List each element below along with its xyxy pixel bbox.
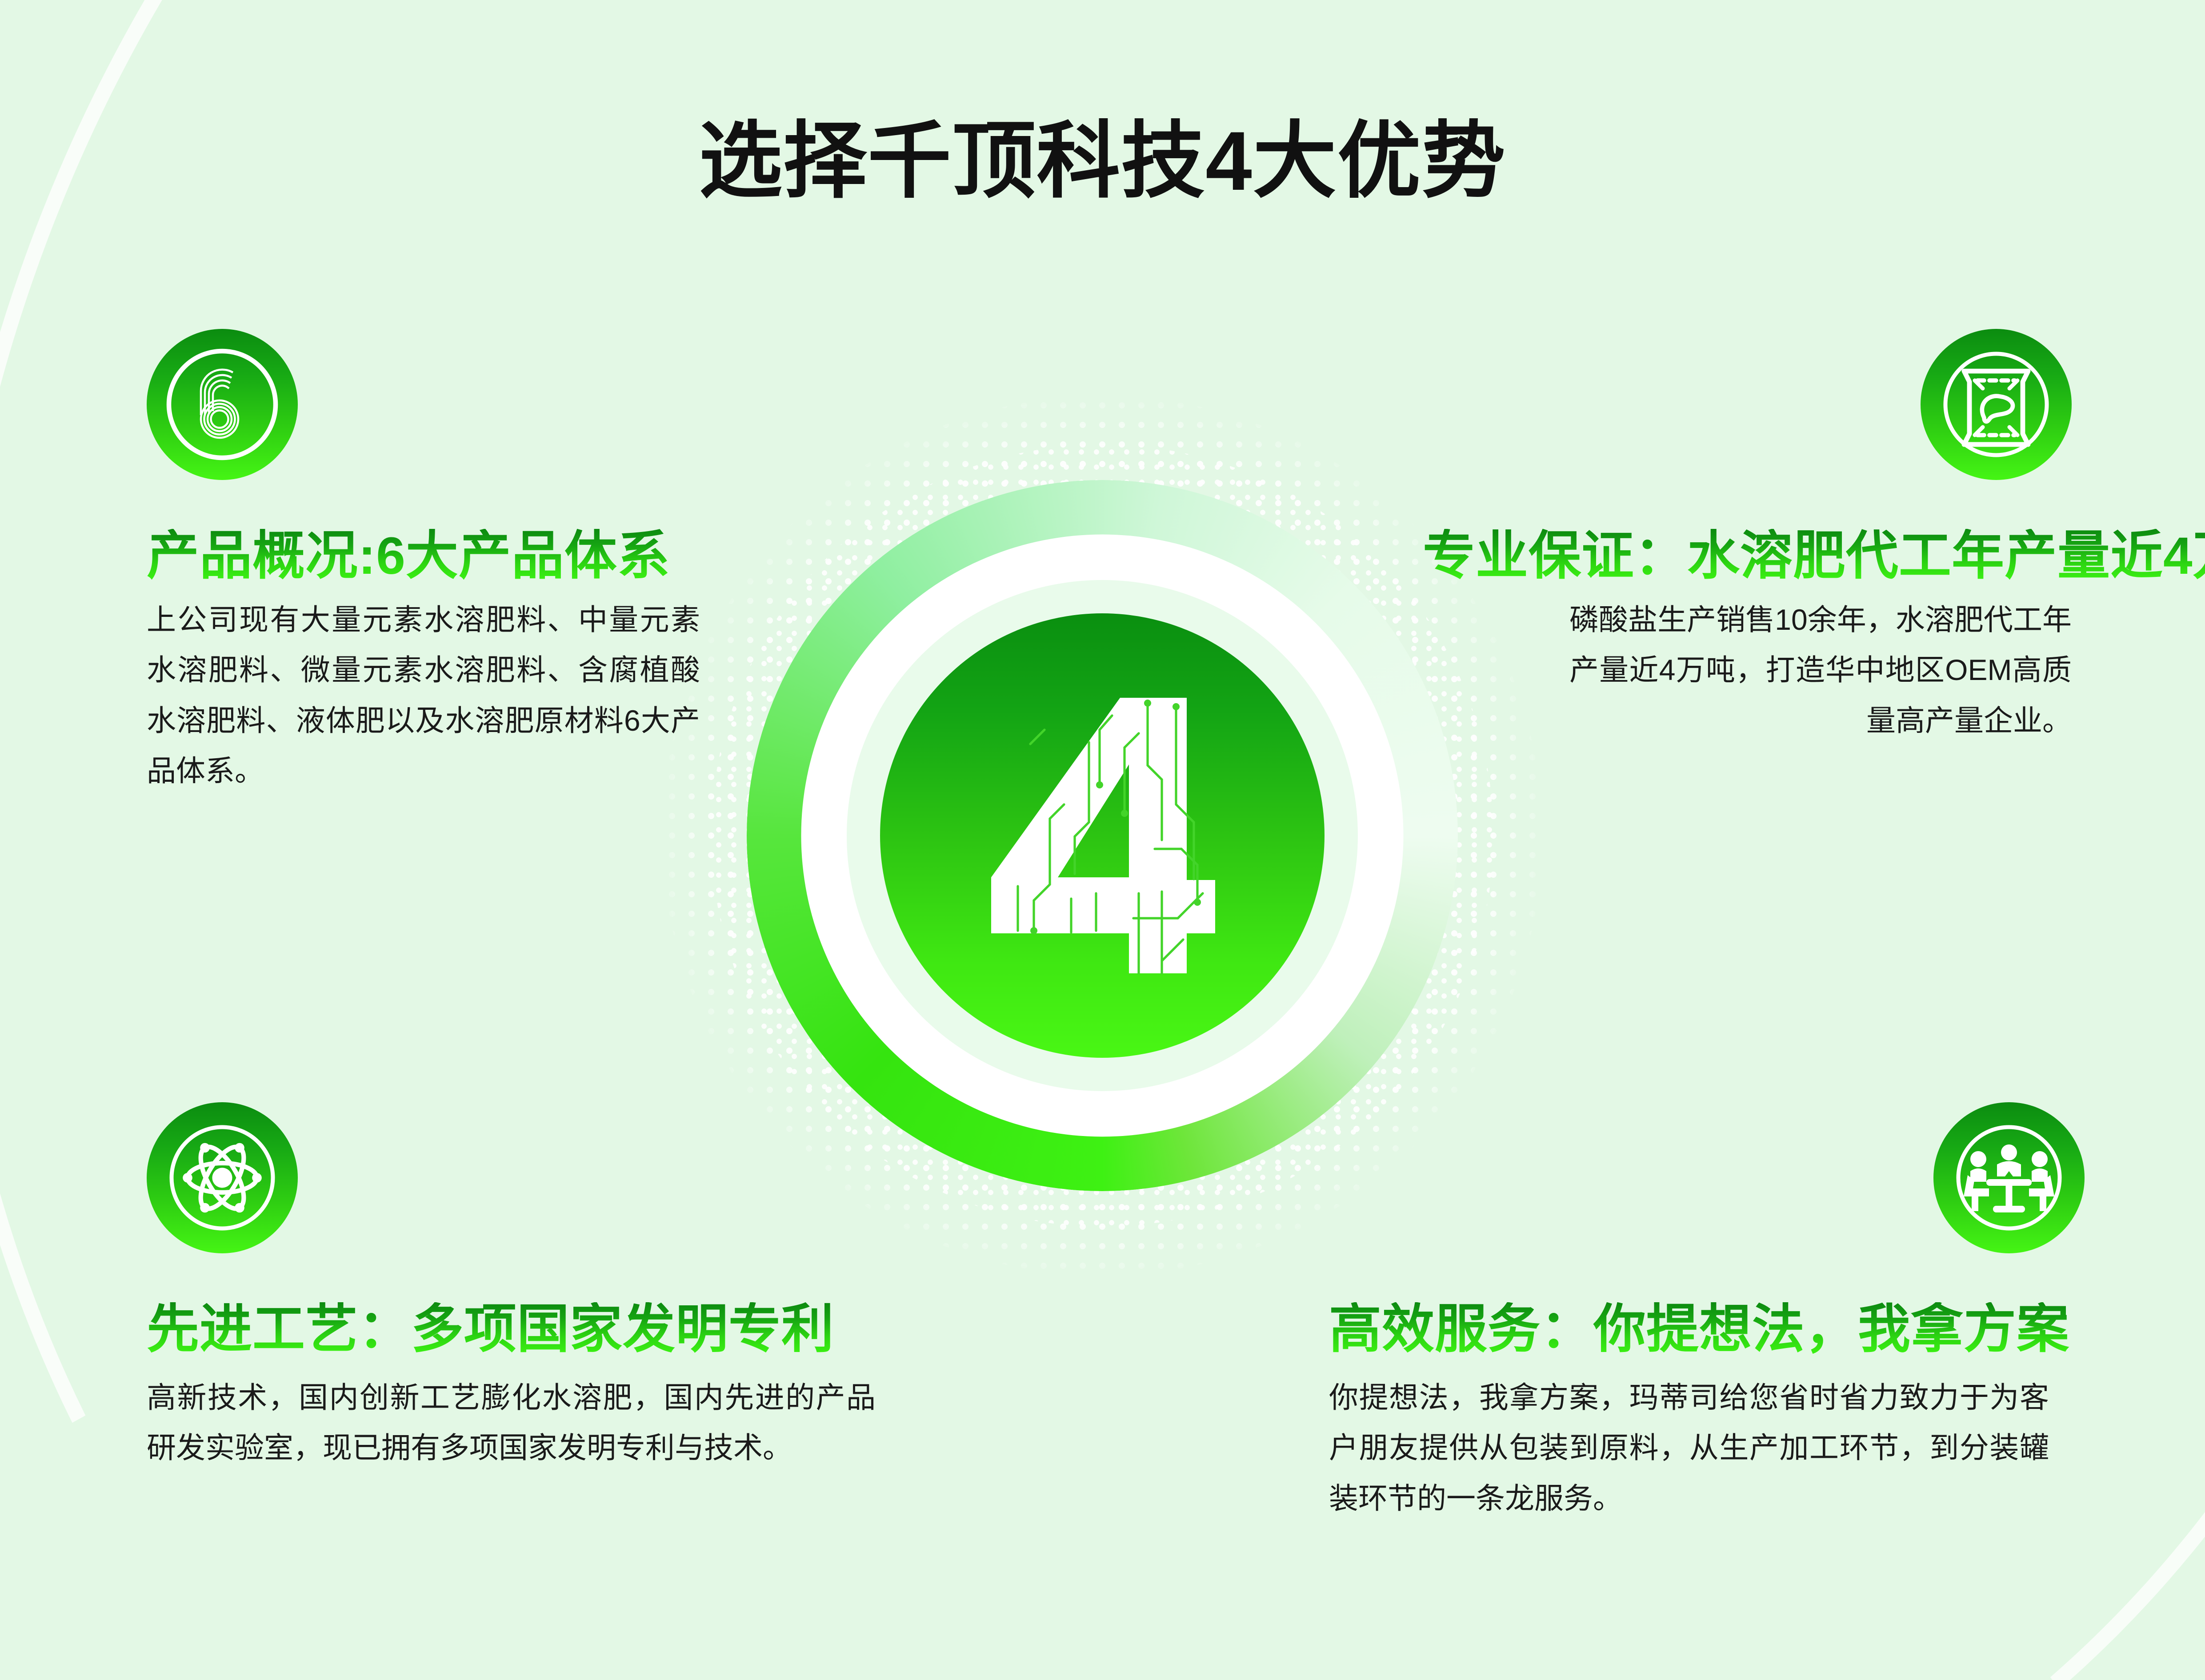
quadrant-heading: 先进工艺：多项国家发明专利 xyxy=(147,1302,911,1357)
quadrant-heading: 产品概况:6大产品体系 xyxy=(147,529,733,584)
page-title: 选择千顶科技4大优势 xyxy=(0,93,2205,214)
quadrant-heading: 专业保证：水溶肥代工年产量近4万吨 xyxy=(1423,529,2205,584)
six-rings-icon xyxy=(147,329,298,480)
quadrant-product-overview: 产品概况:6大产品体系 上公司现有大量元素水溶肥料、中量元素水溶肥料、微量元素水… xyxy=(147,329,733,796)
infographic-stage: 选择千顶科技4大优势 xyxy=(0,0,2205,1680)
quadrant-body: 磷酸盐生产销售10余年，水溶肥代工年产量近4万吨，打造华中地区OEM高质量高产量… xyxy=(1569,595,2072,746)
atom-icon xyxy=(147,1102,298,1253)
quadrant-efficient-service: 高效服务：你提想法，我拿方案 你提想法，我拿方案，玛蒂司给您省时省力致力于为客户… xyxy=(1329,1102,2085,1524)
quadrant-body: 你提想法，我拿方案，玛蒂司给您省时省力致力于为客户朋友提供从包装到原料，从生产加… xyxy=(1329,1372,2049,1524)
meeting-table-icon xyxy=(1933,1102,2085,1253)
quadrant-body: 上公司现有大量元素水溶肥料、中量元素水溶肥料、微量元素水溶肥料、含腐植酸水溶肥料… xyxy=(147,595,700,796)
fertilizer-bag-icon xyxy=(1921,329,2072,480)
number-four-icon xyxy=(964,680,1240,991)
quadrant-professional-guarantee: 专业保证：水溶肥代工年产量近4万吨 磷酸盐生产销售10余年，水溶肥代工年产量近4… xyxy=(1423,329,2072,746)
quadrant-advanced-process: 先进工艺：多项国家发明专利 高新技术，国内创新工艺膨化水溶肥，国内先进的产品研发… xyxy=(147,1102,911,1473)
quadrant-body: 高新技术，国内创新工艺膨化水溶肥，国内先进的产品研发实验室，现已拥有多项国家发明… xyxy=(147,1372,876,1473)
quadrant-heading: 高效服务：你提想法，我拿方案 xyxy=(1329,1302,2085,1357)
